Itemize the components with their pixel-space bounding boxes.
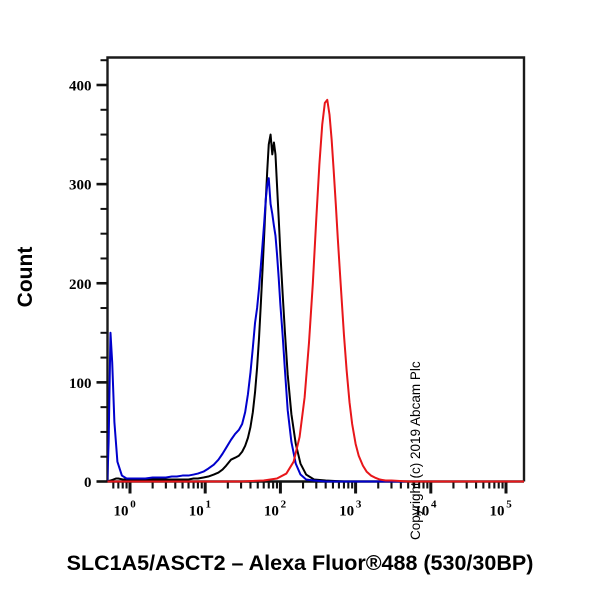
y-tick-label: 400 xyxy=(69,79,92,95)
copyright-notice: Copyright (c) 2019 Abcam Plc xyxy=(408,240,423,540)
histogram-plot: 0100200300400 100101102103104105 xyxy=(0,0,600,600)
x-tick-label: 100 xyxy=(114,499,137,520)
svg-text:2: 2 xyxy=(281,499,287,511)
svg-text:10: 10 xyxy=(189,504,204,520)
y-axis-title: Count xyxy=(14,232,38,322)
y-axis-tick-labels: 0100200300400 xyxy=(69,79,92,492)
x-axis-tick-labels: 100101102103104105 xyxy=(114,499,513,520)
svg-text:0: 0 xyxy=(130,499,136,511)
y-axis-ticks xyxy=(97,60,108,481)
x-tick-label: 101 xyxy=(189,499,211,520)
x-tick-label: 105 xyxy=(490,499,513,520)
svg-text:3: 3 xyxy=(356,499,362,511)
figure-caption: SLC1A5/ASCT2 – Alexa Fluor®488 (530/30BP… xyxy=(0,551,600,576)
curve-unstained-control xyxy=(107,135,423,482)
histogram-curves xyxy=(107,100,542,482)
plot-frame xyxy=(108,58,525,482)
flow-cytometry-figure: 0100200300400 100101102103104105 Count C… xyxy=(0,0,600,600)
svg-text:10: 10 xyxy=(264,504,279,520)
y-tick-label: 100 xyxy=(69,376,92,392)
svg-text:10: 10 xyxy=(490,504,505,520)
x-tick-label: 102 xyxy=(264,499,287,520)
svg-text:10: 10 xyxy=(114,504,129,520)
y-tick-label: 200 xyxy=(69,277,92,293)
x-tick-label: 103 xyxy=(339,499,362,520)
svg-text:1: 1 xyxy=(205,499,211,511)
svg-text:5: 5 xyxy=(506,499,512,511)
x-axis-ticks xyxy=(113,482,506,494)
y-tick-label: 0 xyxy=(84,475,92,491)
curve-slc1a5-ascT2-antibody xyxy=(107,100,542,482)
svg-text:10: 10 xyxy=(339,504,354,520)
svg-text:4: 4 xyxy=(431,499,437,511)
y-tick-label: 300 xyxy=(69,178,92,194)
